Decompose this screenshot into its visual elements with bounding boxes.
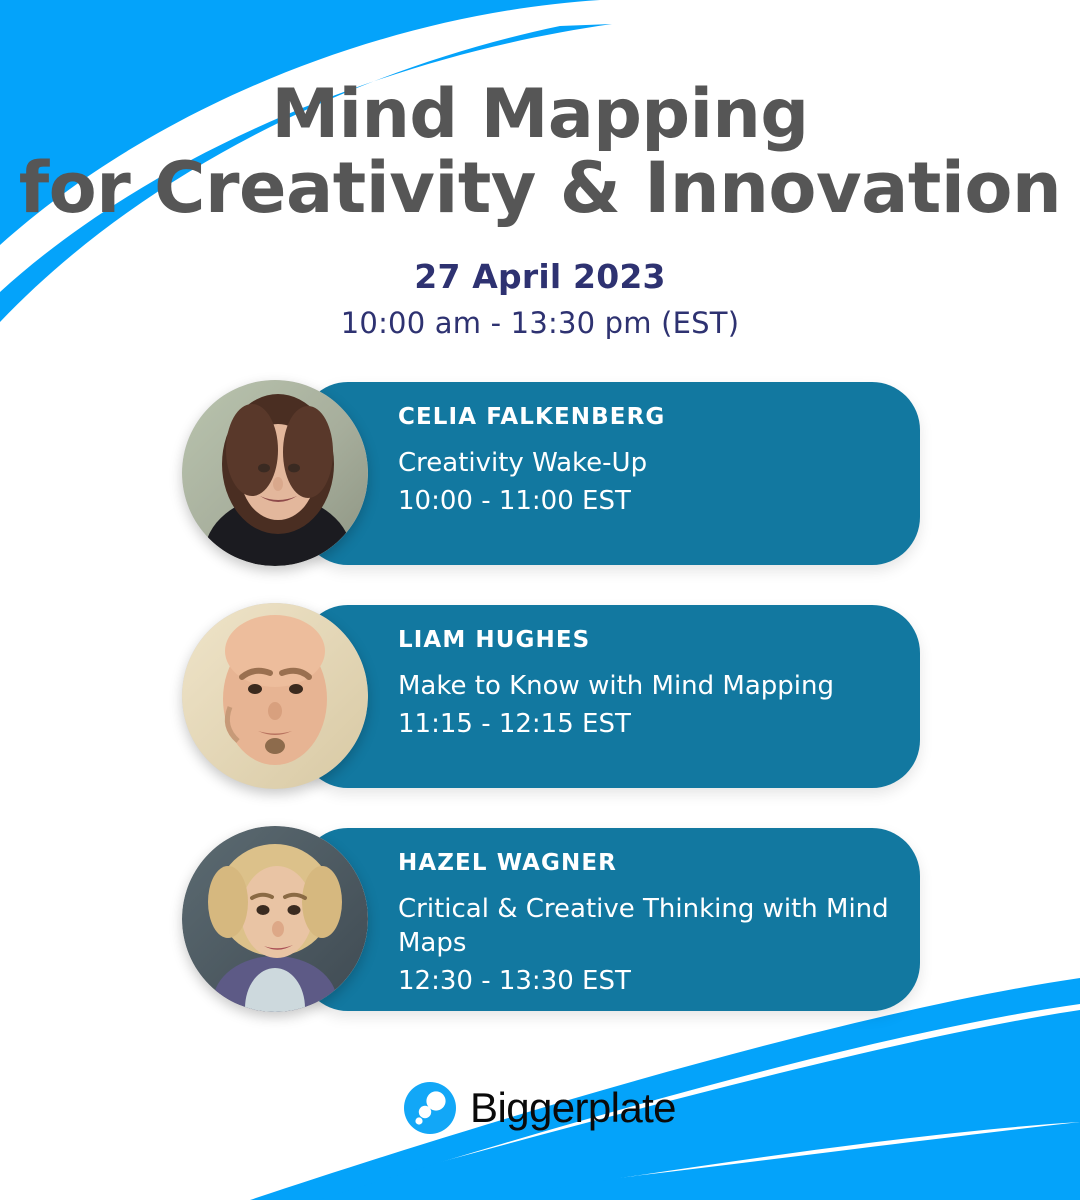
avatar: [182, 826, 368, 1012]
session-card-text: CELIA FALKENBERG Creativity Wake-Up 10:0…: [398, 382, 898, 565]
avatar: [182, 603, 368, 789]
speaker-name: HAZEL WAGNER: [398, 850, 898, 878]
poster-header: Mind Mapping for Creativity & Innovation…: [0, 78, 1080, 340]
session-title: Creativity Wake-Up: [398, 446, 898, 480]
session-card[interactable]: CELIA FALKENBERG Creativity Wake-Up 10:0…: [0, 382, 1080, 565]
session-time: 12:30 - 13:30 EST: [398, 964, 898, 998]
page-title-line-1: Mind Mapping: [0, 78, 1080, 151]
session-card-text: LIAM HUGHES Make to Know with Mind Mappi…: [398, 605, 898, 788]
session-title: Make to Know with Mind Mapping: [398, 669, 898, 703]
session-time: 10:00 - 11:00 EST: [398, 484, 898, 518]
biggerplate-logo-icon: [404, 1082, 456, 1134]
event-time-range: 10:00 am - 13:30 pm (EST): [0, 306, 1080, 340]
page-title-line-2: for Creativity & Innovation: [0, 151, 1080, 227]
speaker-name: CELIA FALKENBERG: [398, 404, 898, 432]
session-card-text: HAZEL WAGNER Critical & Creative Thinkin…: [398, 828, 898, 1011]
avatar: [182, 380, 368, 566]
session-title: Critical & Creative Thinking with Mind M…: [398, 892, 898, 961]
session-time: 11:15 - 12:15 EST: [398, 707, 898, 741]
speaker-name: LIAM HUGHES: [398, 627, 898, 655]
session-card[interactable]: LIAM HUGHES Make to Know with Mind Mappi…: [0, 605, 1080, 788]
brand-wordmark: Biggerplate: [470, 1087, 676, 1129]
brand-footer: Biggerplate: [0, 1082, 1080, 1134]
session-list: CELIA FALKENBERG Creativity Wake-Up 10:0…: [0, 382, 1080, 1051]
session-card[interactable]: HAZEL WAGNER Critical & Creative Thinkin…: [0, 828, 1080, 1011]
poster-canvas: Mind Mapping for Creativity & Innovation…: [0, 0, 1080, 1200]
event-date: 27 April 2023: [0, 257, 1080, 296]
